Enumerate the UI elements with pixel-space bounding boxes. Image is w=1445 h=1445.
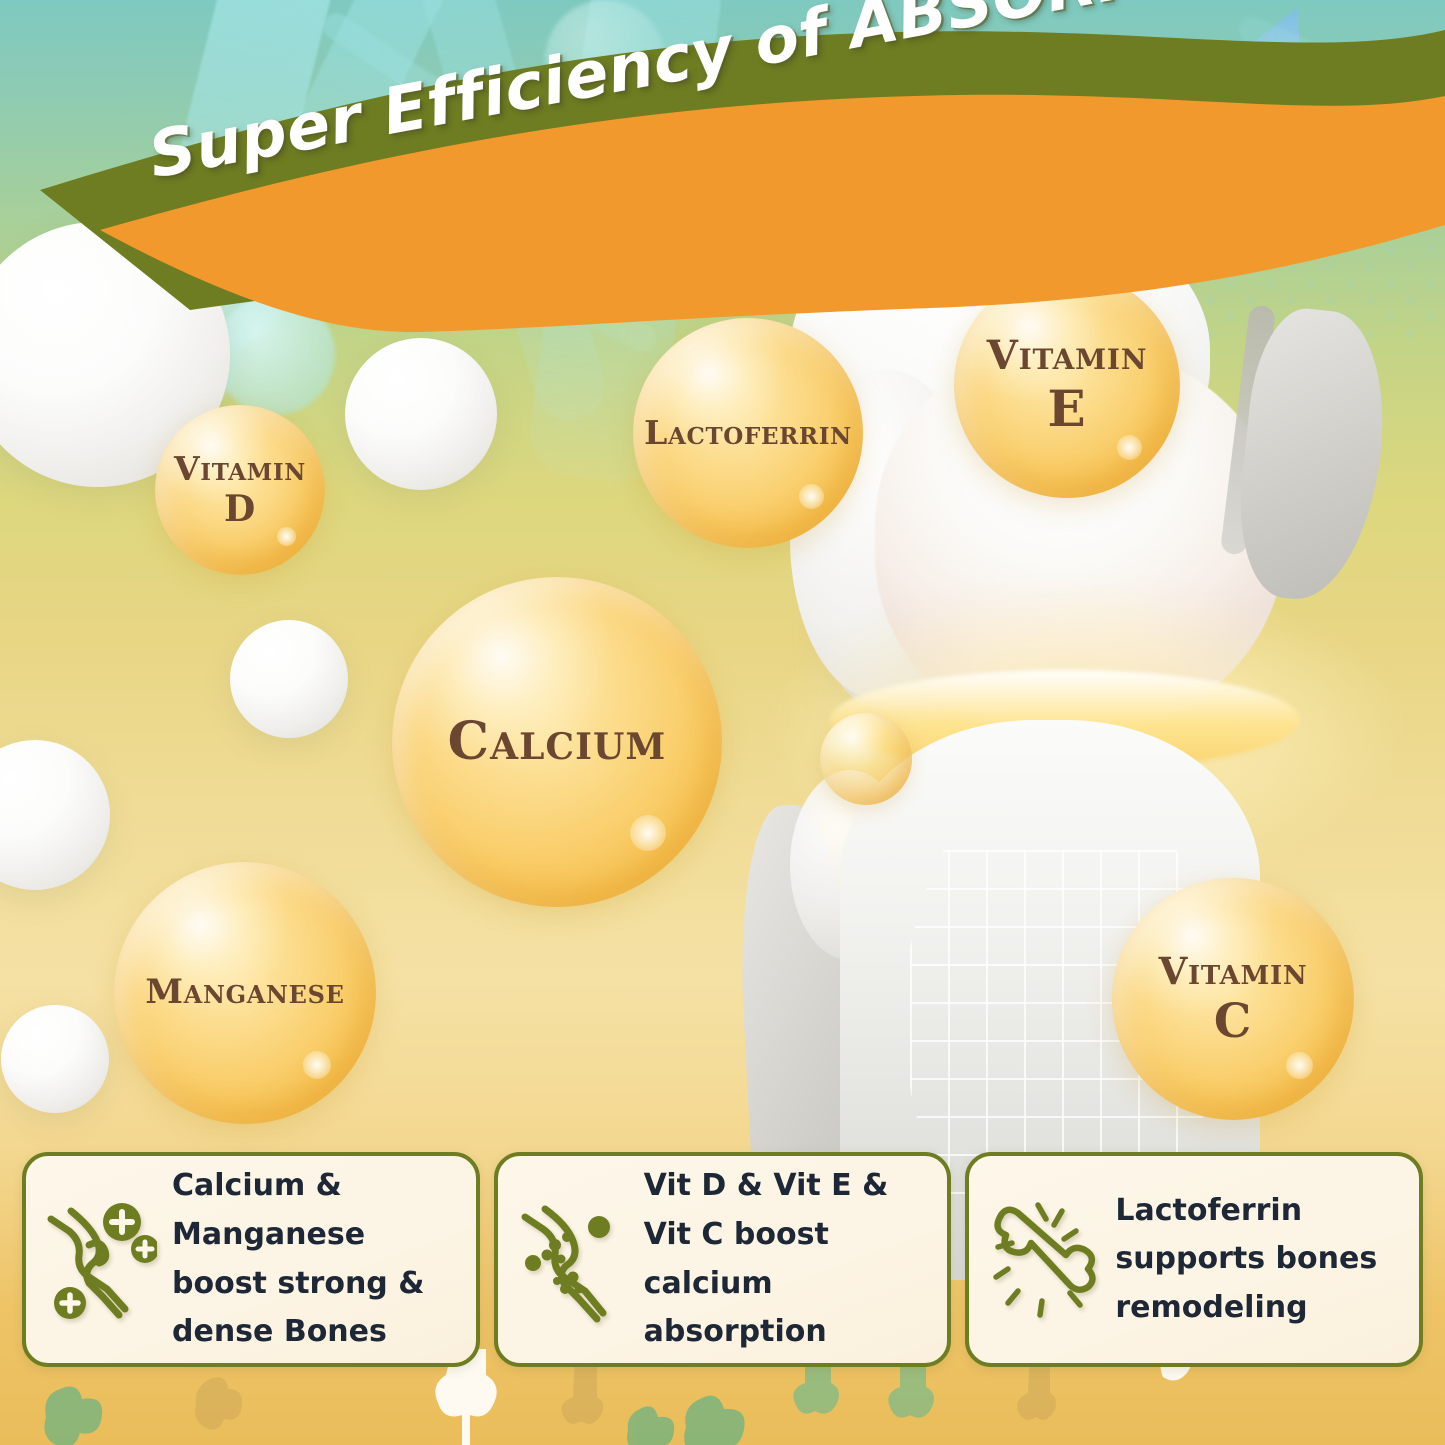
bubble-manganese[interactable]: Manganese — [114, 862, 376, 1124]
card-calcium-manganese[interactable]: Calcium & Manganese boost strong & dense… — [22, 1152, 480, 1367]
card-text: Lactoferrin supports bones remodeling — [1103, 1187, 1409, 1333]
white-sphere-4 — [0, 740, 110, 890]
joint-dots-icon — [514, 1195, 632, 1325]
bubble-lactoferrin[interactable]: Lactoferrin — [633, 318, 863, 548]
benefit-cards: Calcium & Manganese boost strong & dense… — [22, 1152, 1423, 1367]
joint-plus-icon — [42, 1195, 160, 1325]
card-text: Calcium & Manganese boost strong & dense… — [160, 1162, 466, 1356]
bubble-label-primary: Vitamin — [987, 335, 1147, 377]
card-lactoferrin-remodeling[interactable]: Lactoferrin supports bones remodeling — [965, 1152, 1423, 1367]
white-sphere-3 — [230, 620, 348, 738]
bubble-label-primary: Lactoferrin — [644, 416, 852, 451]
bubble-label-secondary: E — [1047, 383, 1086, 436]
card-vitamins-absorption[interactable]: Vit D & Vit E & Vit C boost calcium abso… — [494, 1152, 952, 1367]
bubble-label-secondary: D — [224, 491, 256, 529]
bubble-label-secondary: C — [1214, 997, 1252, 1046]
bubble-vitamin-d[interactable]: VitaminD — [155, 405, 325, 575]
poster-infographic: VitaminDLactoferrinVitaminECalciumMangan… — [0, 0, 1445, 1445]
bubble-label-primary: Vitamin — [1159, 952, 1308, 991]
banner-title: Super Efficiency of ABSORPTION — [143, 0, 1323, 193]
bubble-vitamin-c[interactable]: VitaminC — [1112, 878, 1354, 1120]
card-text: Vit D & Vit E & Vit C boost calcium abso… — [632, 1162, 938, 1356]
white-sphere-5 — [1, 1005, 109, 1113]
bubble-label-primary: Vitamin — [174, 452, 306, 487]
white-sphere-2 — [345, 338, 497, 490]
bubble-label-primary: Manganese — [145, 975, 344, 1011]
bubble-plain-bubble — [820, 713, 912, 805]
banner-title-wrap: Super Efficiency of ABSORPTION — [0, 0, 1445, 340]
headline-banner: Super Efficiency of ABSORPTION — [0, 0, 1445, 340]
bone-shine-icon — [985, 1195, 1103, 1325]
bubble-label-primary: Calcium — [448, 715, 667, 770]
bubble-calcium[interactable]: Calcium — [392, 577, 722, 907]
